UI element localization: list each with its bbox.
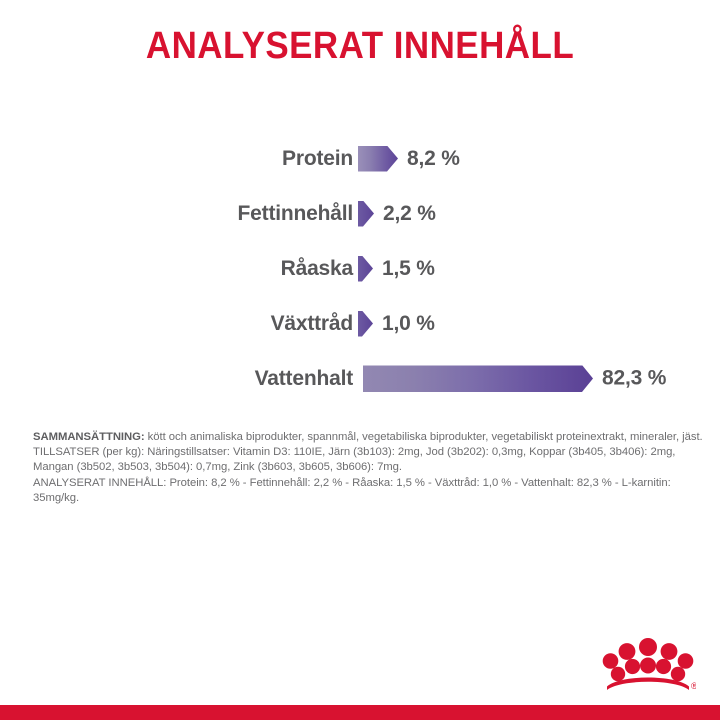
royal-canin-crown-logo: ®: [600, 634, 696, 696]
composition-text-block: SAMMANSÄTTNING: kött och animaliska bipr…: [33, 430, 703, 506]
nutrient-bar-group-crude-fibre: 1,0 %: [358, 311, 435, 337]
nutrient-label-crude-ash: Råaska: [281, 258, 353, 280]
nutrient-bar-group-crude-ash: 1,5 %: [358, 256, 435, 282]
page-title: ANALYSERAT INNEHÅLL: [29, 24, 691, 68]
nutrient-value-crude-fibre: 1,0 %: [382, 313, 435, 335]
composition-line-ingredients: SAMMANSÄTTNING: kött och animaliska bipr…: [33, 430, 703, 445]
nutrition-panel: ANALYSERAT INNEHÅLL Protein 8,2 % Fettin…: [0, 0, 720, 720]
nutrient-bar-crude-ash: [358, 256, 373, 282]
nutrient-label-fat: Fettinnehåll: [238, 203, 353, 225]
nutrient-bar-group-protein: 8,2 %: [358, 146, 460, 172]
analytical-constituents-chart: Protein 8,2 % Fettinnehåll 2,2 % Råaska …: [0, 131, 720, 406]
nutrient-bar-fat: [358, 201, 374, 227]
composition-ingredients-text: kött och animaliska biprodukter, spannmå…: [145, 431, 703, 443]
composition-lead-label: SAMMANSÄTTNING:: [33, 431, 145, 443]
nutrient-value-moisture: 82,3 %: [602, 368, 666, 390]
composition-line-analysis: ANALYSERAT INNEHÅLL: Protein: 8,2 % - Fe…: [33, 476, 703, 506]
table-row: Råaska 1,5 %: [0, 241, 720, 296]
table-row: Vattenhalt 82,3 %: [0, 351, 720, 406]
nutrient-bar-protein: [358, 146, 398, 172]
footer-accent-bar: [0, 705, 720, 720]
nutrient-value-protein: 8,2 %: [407, 148, 460, 170]
nutrient-label-crude-fibre: Växttråd: [271, 313, 353, 335]
table-row: Fettinnehåll 2,2 %: [0, 186, 720, 241]
composition-line-additives: TILLSATSER (per kg): Näringstillsatser: …: [33, 445, 703, 475]
nutrient-value-crude-ash: 1,5 %: [382, 258, 435, 280]
nutrient-bar-moisture: [363, 365, 593, 392]
registered-trademark-mark: ®: [691, 681, 696, 691]
table-row: Växttråd 1,0 %: [0, 296, 720, 351]
nutrient-bar-group-moisture: 82,3 %: [363, 365, 666, 392]
nutrient-label-moisture: Vattenhalt: [255, 368, 353, 390]
nutrient-bar-crude-fibre: [358, 311, 373, 337]
table-row: Protein 8,2 %: [0, 131, 720, 186]
nutrient-value-fat: 2,2 %: [383, 203, 436, 225]
nutrient-label-protein: Protein: [282, 148, 353, 170]
nutrient-bar-group-fat: 2,2 %: [358, 201, 436, 227]
